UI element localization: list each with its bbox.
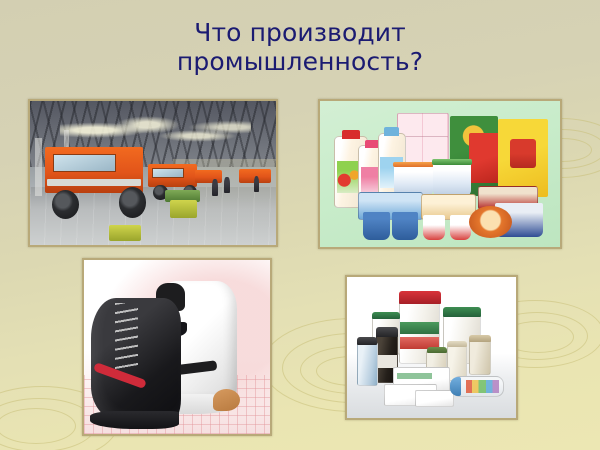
- assembly-cart-yellow: [109, 225, 141, 241]
- boot-laces: [115, 303, 138, 371]
- assembly-cart-yellow: [170, 200, 197, 217]
- medicine-box: [415, 390, 454, 408]
- slide-title: Что производит промышленность?: [0, 18, 600, 76]
- title-line-2: промышленность?: [0, 47, 600, 76]
- tub-lid: [393, 162, 434, 167]
- factory-rack: [35, 138, 42, 196]
- tub-lid: [432, 159, 473, 165]
- effervescent-tube: [452, 376, 505, 398]
- orange-truck-distant: [195, 170, 222, 183]
- factory-worker: [254, 176, 259, 192]
- jar-cap: [372, 312, 399, 319]
- truck-assembly-plant-photo: [28, 99, 278, 247]
- truck-windshield: [152, 168, 184, 178]
- factory-worker: [212, 179, 218, 196]
- jar-label-band: [400, 322, 439, 334]
- orange-truck-second: [148, 164, 197, 187]
- box-label-stripe: [397, 373, 432, 380]
- jar-cap: [399, 291, 441, 303]
- medicine-jar-small: [469, 339, 491, 375]
- ripple-ring: [0, 408, 76, 444]
- truck-wheel: [119, 187, 146, 217]
- sport-boots-photo: [82, 258, 272, 436]
- tube-colour-chart: [466, 380, 499, 393]
- boot-sole: [90, 411, 179, 429]
- food-packet-yellow-logo: [510, 139, 536, 168]
- jar-cap: [443, 307, 481, 317]
- dessert-cup: [423, 215, 445, 240]
- jar-cap: [469, 335, 491, 342]
- bottle-cap: [376, 327, 398, 337]
- yogurt-tub-large: [433, 162, 471, 197]
- factory-worker: [224, 177, 229, 193]
- orange-truck-foreground: [45, 147, 143, 193]
- pharmaceutical-products-photo: [345, 275, 518, 420]
- yogurt-cup-small: [392, 212, 418, 240]
- tube-cap: [450, 377, 461, 397]
- jar-cap: [427, 347, 447, 353]
- medicine-bottle-blue: [357, 342, 378, 386]
- food-products-photo: [318, 99, 562, 249]
- truck-windshield: [53, 154, 116, 173]
- black-sport-boot: [91, 298, 180, 423]
- boot-toe-cap: [213, 389, 240, 412]
- yogurt-cup-small: [363, 212, 389, 240]
- jar-cap: [447, 341, 467, 348]
- bottle-cap: [357, 337, 377, 345]
- title-line-1: Что производит: [0, 18, 600, 47]
- slide-canvas: Что производит промышленность?: [0, 0, 600, 450]
- truck-bumper: [47, 179, 141, 185]
- bottle-label: [377, 355, 397, 368]
- dessert-cup: [450, 215, 472, 240]
- food-lid-orange: [469, 206, 512, 238]
